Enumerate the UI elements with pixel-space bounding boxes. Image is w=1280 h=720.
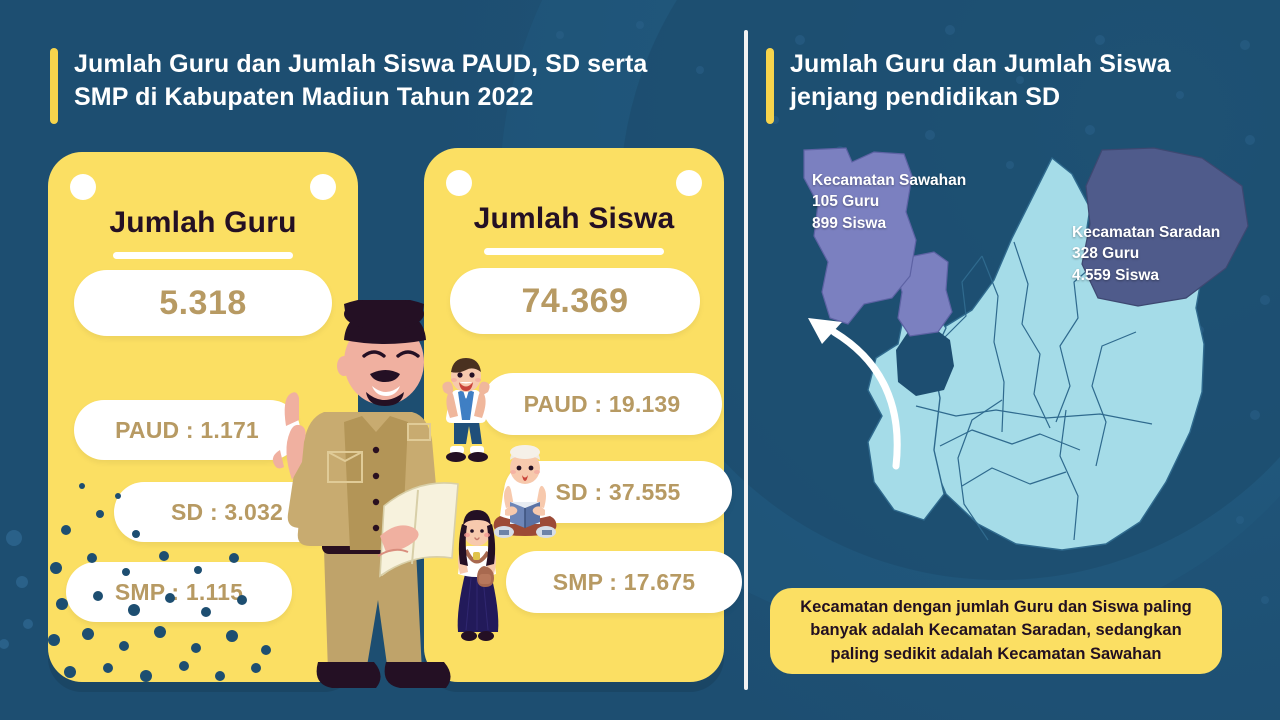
right-section-title: Jumlah Guru dan Jumlah Siswa jenjang pen…: [766, 48, 1236, 124]
infographic-canvas: Jumlah Guru dan Jumlah Siswa PAUD, SD se…: [0, 0, 1280, 720]
punch-hole-left: [70, 174, 96, 200]
punch-hole-right: [676, 170, 702, 196]
map-label-saradan: Kecamatan Saradan 328 Guru 4.559 Siswa: [1072, 222, 1220, 286]
card-dot-texture: [48, 472, 278, 682]
map-label-sawahan: Kecamatan Sawahan 105 Guru 899 Siswa: [812, 170, 966, 234]
punch-hole-left: [446, 170, 472, 196]
siswa-total-value: 74.369: [450, 268, 700, 334]
card-title-underline: [484, 248, 664, 255]
guru-paud-row: PAUD : 1.171: [74, 400, 300, 460]
stat-card-jumlah-guru: Jumlah Guru 5.318 PAUD : 1.171 SD : 3.03…: [48, 152, 358, 682]
title-accent-bar: [766, 48, 774, 124]
right-title-text: Jumlah Guru dan Jumlah Siswa jenjang pen…: [790, 48, 1171, 115]
left-title-text: Jumlah Guru dan Jumlah Siswa PAUD, SD se…: [74, 48, 647, 115]
guru-total-value: 5.318: [74, 270, 332, 336]
title-accent-bar: [50, 48, 58, 124]
left-section-title: Jumlah Guru dan Jumlah Siswa PAUD, SD se…: [50, 48, 710, 124]
punch-hole-right: [310, 174, 336, 200]
vertical-divider: [744, 30, 748, 690]
map-caption-box: Kecamatan dengan jumlah Guru dan Siswa p…: [770, 588, 1222, 674]
stat-card-jumlah-siswa: Jumlah Siswa 74.369 PAUD : 19.139 SD : 3…: [424, 148, 724, 682]
card-title-guru: Jumlah Guru: [48, 206, 358, 240]
siswa-sd-row: SD : 37.555: [504, 461, 732, 523]
siswa-paud-row: PAUD : 19.139: [482, 373, 722, 435]
card-title-underline: [113, 252, 293, 259]
map-caption-text: Kecamatan dengan jumlah Guru dan Siswa p…: [800, 596, 1192, 666]
card-title-siswa: Jumlah Siswa: [424, 202, 724, 236]
siswa-smp-row: SMP : 17.675: [506, 551, 742, 613]
